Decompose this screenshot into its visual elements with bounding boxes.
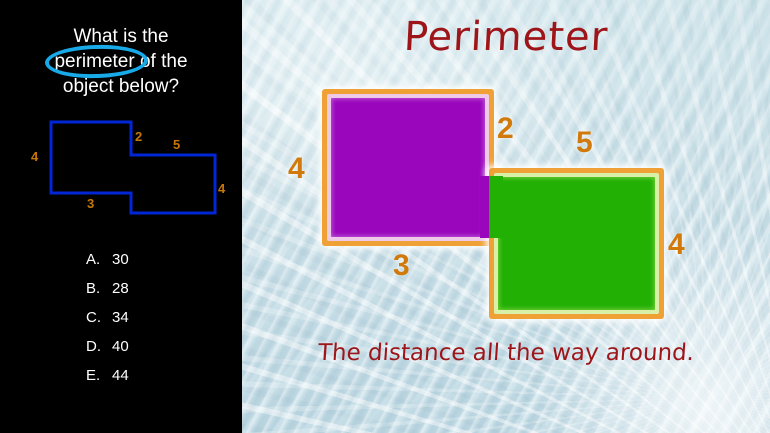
main-shape-diagram: 4 2 5 3 4 — [0, 0, 770, 433]
slide-canvas: What is the perimeter of the object belo… — [0, 0, 770, 433]
main-label-bottom: 3 — [393, 249, 410, 283]
purple-inner-glow — [327, 94, 489, 241]
purple-green-seam-green-side — [489, 176, 503, 238]
main-label-left: 4 — [288, 152, 305, 186]
purple-fill — [331, 98, 485, 237]
main-label-right: 4 — [668, 228, 685, 262]
green-rectangle — [489, 168, 664, 319]
slide-caption: The distance all the way around. — [241, 340, 770, 366]
main-label-notch: 2 — [497, 112, 514, 146]
green-inner-glow — [494, 173, 659, 314]
purple-rectangle — [322, 89, 494, 246]
main-label-top: 5 — [576, 126, 593, 160]
green-fill — [498, 177, 655, 310]
